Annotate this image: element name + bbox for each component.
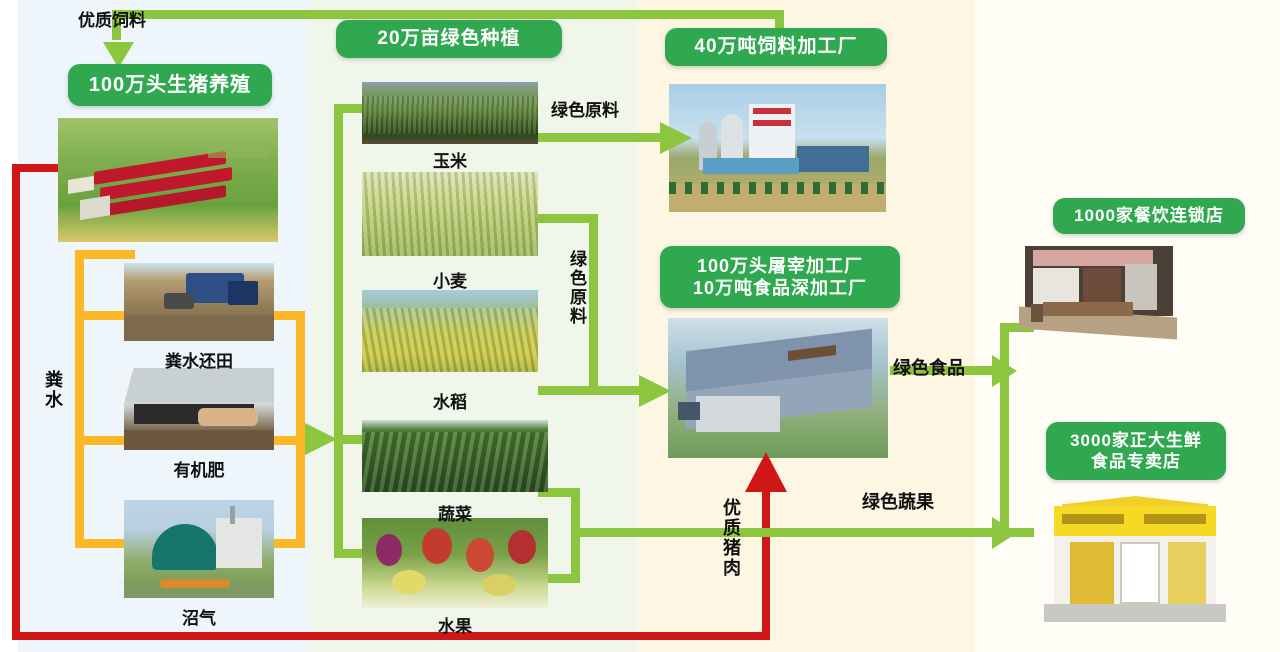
pill-planting[interactable]: 20万亩绿色种植 xyxy=(336,20,562,58)
green-crop-corn-in xyxy=(334,104,364,113)
caption-biogas: 沼气 xyxy=(124,604,274,629)
red-line-left xyxy=(12,164,20,640)
photo-feed-plant xyxy=(669,84,886,212)
photo-organic-fertilizer xyxy=(124,368,274,450)
flow-label-green-produce: 绿色蔬果 xyxy=(862,488,934,514)
flow-label-quality-pork: 优质猪肉 xyxy=(718,498,744,578)
caption-corn: 玉米 xyxy=(362,147,538,172)
photo-slaughter-plant xyxy=(668,318,888,458)
caption-manure-return: 粪水还田 xyxy=(124,347,274,372)
pill-livestock[interactable]: 100万头生猪养殖 xyxy=(68,64,272,106)
green-feed-return-top xyxy=(112,10,784,19)
pill-feed-plant[interactable]: 40万吨饲料加工厂 xyxy=(665,28,887,66)
photo-retail-store xyxy=(1040,492,1230,628)
caption-wheat: 小麦 xyxy=(362,267,538,292)
flow-label-quality-feed: 优质饲料 xyxy=(78,6,146,31)
flow-label-green-material-top: 绿色原料 xyxy=(551,96,619,121)
orange-branch-fertilizer xyxy=(75,436,130,445)
green-crop-rail xyxy=(334,104,343,558)
green-crop-veg-in xyxy=(334,435,364,444)
orange-collector xyxy=(296,311,305,548)
pill-slaughter-plant[interactable]: 100万头屠宰加工厂 10万吨食品深加工厂 xyxy=(660,246,900,308)
pill-restaurants[interactable]: 1000家餐饮连锁店 xyxy=(1053,198,1245,234)
photo-manure-return xyxy=(124,263,274,341)
pill-slaughter-line2: 10万吨食品深加工厂 xyxy=(693,277,867,300)
photo-rice-field xyxy=(362,290,538,372)
green-mid-to-slaughter xyxy=(589,386,647,395)
photo-vegetable-field xyxy=(362,420,548,492)
caption-vegetables: 蔬菜 xyxy=(362,500,548,525)
flow-label-green-material-mid: 绿色原料 xyxy=(564,250,589,326)
green-mid-rail xyxy=(589,214,598,395)
red-line-riser xyxy=(762,462,770,640)
diagram-canvas: 100万头生猪养殖 20万亩绿色种植 40万吨饲料加工厂 100万头屠宰加工厂 … xyxy=(0,0,1280,652)
green-retail-rail xyxy=(1000,323,1009,537)
photo-pig-farm xyxy=(58,118,278,242)
green-corn-to-feedplant xyxy=(538,133,668,142)
pill-slaughter-line1: 100万头屠宰加工厂 xyxy=(697,255,863,278)
photo-fruit xyxy=(362,518,548,608)
caption-organic-fertilizer: 有机肥 xyxy=(124,456,274,481)
flow-label-green-food: 绿色食品 xyxy=(893,354,965,380)
green-store-in xyxy=(1000,528,1034,537)
flow-label-manure-water: 粪水 xyxy=(40,370,66,410)
pill-stores[interactable]: 3000家正大生鲜 食品专卖店 xyxy=(1046,422,1226,480)
green-crop-fruit-in xyxy=(334,549,364,558)
photo-wheat-field xyxy=(362,172,538,256)
caption-fruit: 水果 xyxy=(362,612,548,637)
orange-branch-manure xyxy=(75,311,130,320)
caption-rice: 水稻 xyxy=(362,388,538,413)
green-produce-to-store xyxy=(571,528,1001,537)
pill-stores-line2: 食品专卖店 xyxy=(1091,451,1181,472)
photo-restaurant xyxy=(1013,240,1183,352)
orange-top-stub xyxy=(75,250,135,259)
pill-stores-line1: 3000家正大生鲜 xyxy=(1070,430,1202,451)
orange-trunk xyxy=(75,250,84,548)
photo-biogas xyxy=(124,500,274,598)
photo-corn-field xyxy=(362,82,538,144)
